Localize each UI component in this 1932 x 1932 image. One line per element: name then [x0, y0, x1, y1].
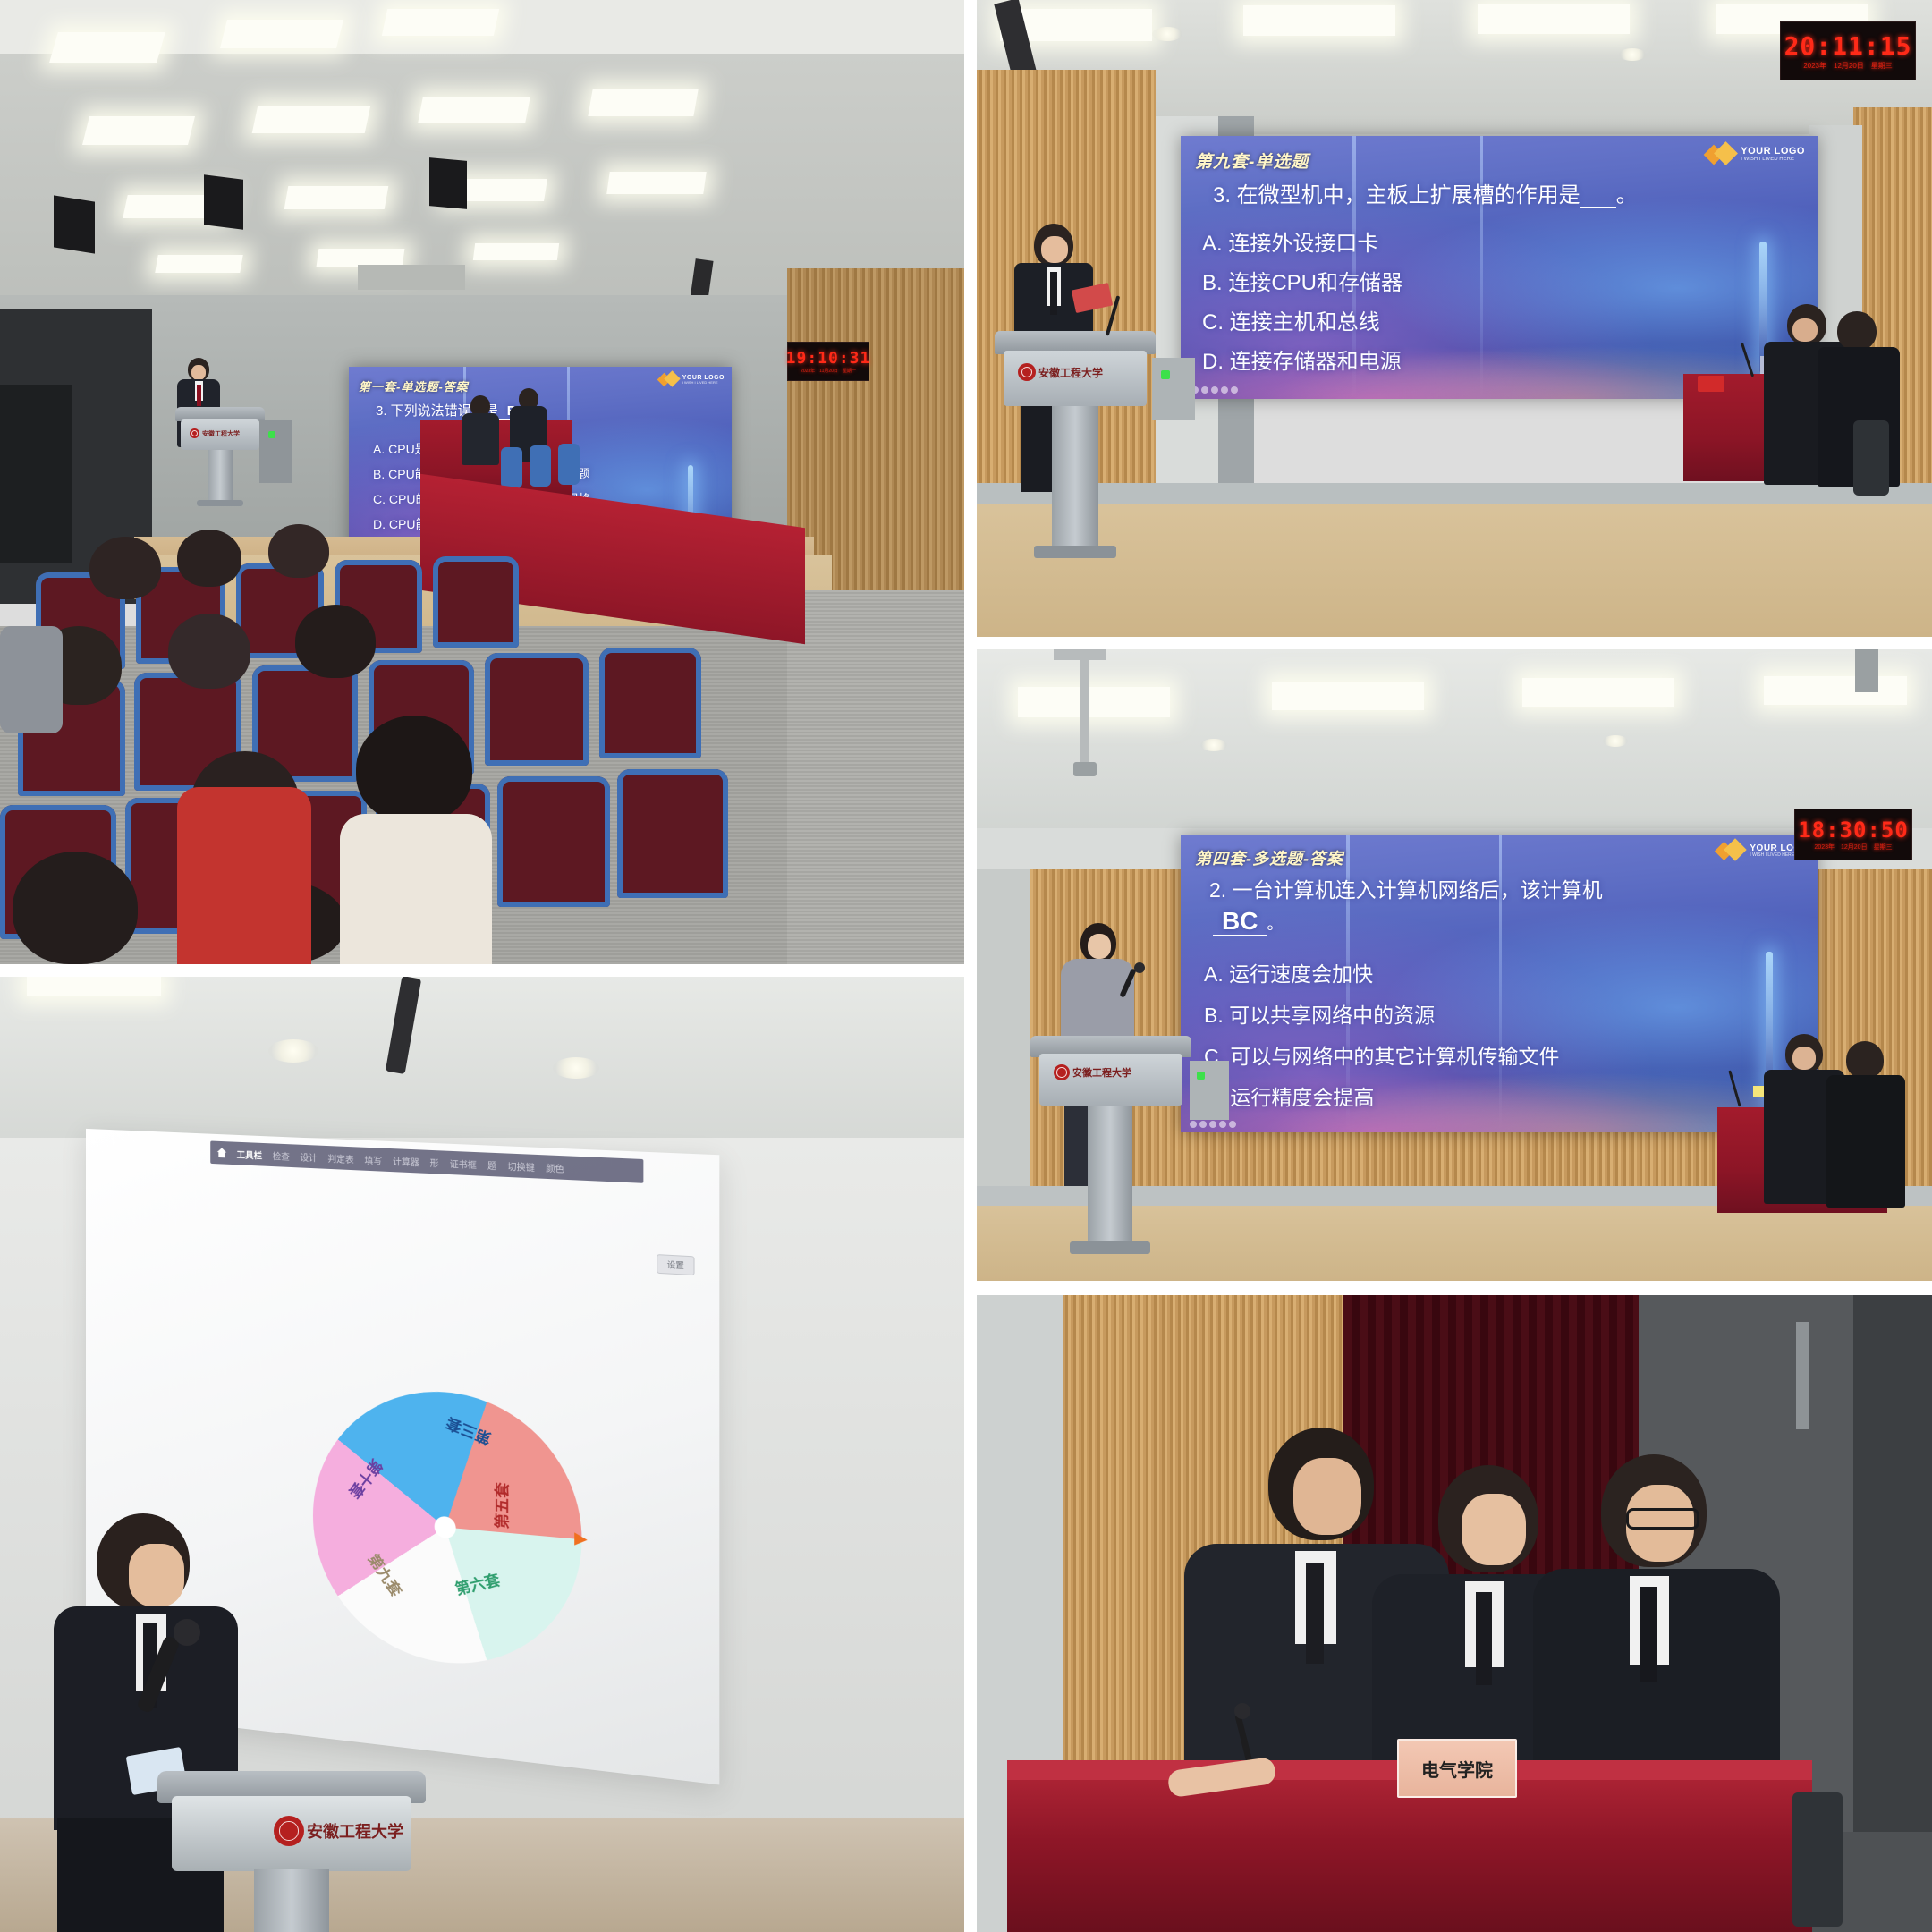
toolbar-item[interactable]: 检查: [273, 1148, 290, 1163]
audience-seat: [497, 776, 610, 907]
projection-screen-frame: 第九套-单选题 YOUR LOGO I WISH I LIVED HERE 3.…: [1181, 136, 1818, 399]
table-marker: [1698, 376, 1724, 392]
folding-chair: [530, 445, 551, 487]
clock-time: 19:10:31: [786, 349, 871, 368]
ceiling-light: [284, 186, 389, 209]
toolbar-item[interactable]: 证书框: [450, 1156, 477, 1170]
folding-chair: [1792, 1792, 1843, 1927]
wheel-label: 第五套: [489, 1481, 512, 1529]
slide-tag: 第一套-单选题-答案: [359, 377, 469, 394]
slide-option: D. 连接存储器和电源: [1202, 343, 1402, 375]
slide-option: C. 可以与网络中的其它计算机传输文件: [1204, 1039, 1559, 1070]
microphone-head: [1134, 962, 1145, 973]
slide-question: 3. 在微型机中，主板上扩展槽的作用是。: [1213, 177, 1638, 208]
podium-institution: 安徽工程大学: [307, 1819, 403, 1843]
ceiling-light: [473, 243, 559, 260]
projector: [1073, 762, 1097, 776]
slide-option: C. 连接主机和总线: [1202, 304, 1380, 335]
toolbar-item[interactable]: 题: [487, 1157, 496, 1172]
downlight-icon: [1619, 48, 1646, 61]
toolbar-item[interactable]: 工具栏: [237, 1147, 263, 1161]
slide-answer-row: BC。: [1213, 907, 1283, 936]
audience-seat: [599, 648, 701, 758]
podium: 安徽工程大学: [175, 407, 265, 505]
panel-auditorium-wide-shot: 第一套-单选题-答案 YOUR LOGO I WISH I LIVED HERE…: [0, 0, 964, 964]
slide-screen: 第九套-单选题 YOUR LOGO I WISH I LIVED HERE 3.…: [1181, 136, 1818, 399]
slide-logo-subtitle: I WISH I LIVED HERE: [682, 381, 724, 385]
downlight-icon: [1152, 27, 1182, 41]
clock-date: 12月20日: [1841, 843, 1868, 852]
toolbar-item[interactable]: 切换键: [507, 1158, 535, 1174]
wheel-pointer-icon: [574, 1532, 588, 1546]
hvac-vent: [358, 265, 465, 290]
folding-chair: [501, 447, 522, 488]
ceiling-light: [606, 172, 707, 194]
status-led: [268, 431, 275, 438]
audience-head: [356, 716, 472, 823]
led-clock: 19:10:31 2023年 11月20日 星期一: [787, 342, 869, 381]
slide-logo: YOUR LOGO I WISH I LIVED HERE: [659, 372, 724, 386]
answer-blank: [1580, 207, 1616, 208]
ceiling-light: [1764, 676, 1907, 705]
toolbar-item[interactable]: 颜色: [546, 1160, 564, 1174]
slide-option: B. 可以共享网络中的资源: [1204, 998, 1435, 1029]
ceiling-light: [27, 977, 161, 996]
audience-head: [268, 524, 329, 578]
led-clock: 20:11:15 2023年 12月20日 星期三: [1780, 21, 1916, 80]
audience-person-white-jacket: [340, 814, 492, 964]
audience-seat: [485, 653, 589, 766]
toolbar-item[interactable]: 填写: [364, 1152, 382, 1166]
audience-person-red-jacket: [177, 787, 311, 964]
wall-equipment-box: [1190, 1061, 1229, 1120]
status-led: [1161, 370, 1170, 379]
projector-mount-bracket: [1054, 649, 1106, 660]
ceiling-speaker: [54, 195, 95, 253]
audience-head: [177, 530, 241, 587]
folding-chair: [1853, 420, 1889, 496]
downlight-icon: [1200, 739, 1227, 751]
toolbar-item[interactable]: 形: [430, 1155, 439, 1169]
slide-tag: 第四套-多选题-答案: [1195, 846, 1343, 869]
podium: 安徽工程大学: [1030, 1036, 1191, 1259]
door-handle: [1796, 1322, 1809, 1429]
ceiling-fixture: [1855, 649, 1878, 692]
equipment-rack: [259, 420, 292, 483]
slide-question-text: 3. 在微型机中，主板上扩展槽的作用是: [1213, 183, 1580, 208]
ceiling-light: [220, 20, 343, 48]
nameplate: 电气学院: [1397, 1739, 1517, 1798]
home-icon[interactable]: [217, 1148, 226, 1157]
clock-time: 20:11:15: [1784, 31, 1912, 61]
ceiling-light: [49, 32, 165, 63]
slide-option: A. 运行速度会加快: [1204, 957, 1373, 987]
slide-logo-subtitle: I WISH I LIVED HERE: [1741, 157, 1805, 162]
audience-seat: [433, 556, 519, 648]
ceiling-light: [1272, 682, 1424, 710]
slide-option: B. 连接CPU和存储器: [1202, 265, 1402, 296]
audience-head: [89, 537, 161, 599]
clock-date: 12月20日: [1834, 61, 1864, 71]
ceiling-light: [317, 249, 405, 267]
panel-three-contestants-table: 电气学院: [977, 1295, 1932, 1932]
audience-head: [295, 605, 376, 678]
slide-question: 2. 一台计算机连入计算机网络后，该计算机: [1209, 873, 1603, 903]
ceiling-light: [1018, 687, 1170, 717]
clock-date: 11月20日: [819, 368, 838, 374]
microphone-head: [1234, 1703, 1250, 1719]
panel-female-host-multiple-choice: 第四套-多选题-答案 YOUR LOGO I WISH I LIVED HERE…: [977, 649, 1932, 1281]
ceiling-light: [1522, 678, 1674, 707]
photo-collage: 第一套-单选题-答案 YOUR LOGO I WISH I LIVED HERE…: [0, 0, 1932, 1932]
ceiling-light: [1478, 4, 1630, 34]
slide-logo: YOUR LOGO I WISH I LIVED HERE: [1707, 143, 1805, 165]
status-led: [1197, 1072, 1205, 1080]
slide-controls[interactable]: [1191, 386, 1238, 394]
folding-chair: [558, 444, 580, 485]
ceiling-light: [155, 255, 243, 273]
ceiling-light: [82, 116, 195, 145]
ceiling-light: [588, 89, 698, 116]
judge: [1826, 1041, 1905, 1207]
toolbar-item[interactable]: 计算器: [393, 1154, 419, 1168]
wall-column: [1853, 1295, 1932, 1832]
audience-seat: [617, 769, 728, 898]
clock-year: 2023年: [801, 368, 815, 374]
clock-year: 2023年: [1814, 843, 1835, 852]
projection-screen-frame: 第四套-多选题-答案 YOUR LOGO I WISH I LIVED HERE…: [1181, 835, 1818, 1132]
panel-host-and-contestants: 第九套-单选题 YOUR LOGO I WISH I LIVED HERE 3.…: [977, 0, 1932, 637]
clock-weekday: 星期一: [843, 368, 856, 374]
slide-answer: BC: [1213, 907, 1267, 936]
slide-option: D. 运行精度会提高: [1204, 1080, 1374, 1111]
ceiling-speaker: [429, 157, 467, 209]
led-clock: 18:30:50 2023年 12月20日 星期三: [1794, 809, 1912, 860]
wall-equipment-box: [1152, 358, 1195, 420]
podium-logo: 安徽工程大学: [1018, 363, 1103, 381]
downlight-icon: [268, 1039, 318, 1063]
slide-logo-title: YOUR LOGO: [1741, 147, 1805, 157]
podium-institution: 安徽工程大学: [1072, 1065, 1131, 1080]
microphone-head: [174, 1619, 200, 1646]
ceiling-light: [1243, 5, 1395, 36]
clock-time: 18:30:50: [1798, 818, 1909, 843]
slide-controls[interactable]: [1190, 1121, 1236, 1128]
clock-weekday: 星期三: [1874, 843, 1893, 852]
slide-screen: 第四套-多选题-答案 YOUR LOGO I WISH I LIVED HERE…: [1181, 835, 1818, 1132]
podium: 安徽工程大学: [157, 1764, 426, 1932]
settings-badge[interactable]: 设置: [657, 1254, 694, 1275]
audience-head: [168, 614, 250, 689]
audience-head: [13, 852, 138, 964]
projector-mount: [1080, 657, 1089, 764]
toolbar-item[interactable]: 判定表: [327, 1151, 353, 1165]
judge: [462, 395, 499, 465]
podium-logo: 安徽工程大学: [1054, 1064, 1131, 1080]
clock-year: 2023年: [1803, 61, 1826, 71]
ceiling-light: [252, 106, 371, 133]
podium-institution: 安徽工程大学: [202, 429, 240, 438]
ceiling-light: [382, 9, 499, 36]
podium-logo: 安徽工程大学: [274, 1816, 403, 1846]
ceiling-light: [418, 97, 530, 123]
slide-question-suffix: 。: [1616, 183, 1638, 208]
slide-option: A. 连接外设接口卡: [1202, 225, 1378, 257]
podium: 安徽工程大学: [995, 331, 1156, 563]
slide-tag: 第九套-单选题: [1195, 148, 1309, 173]
downlight-icon: [1603, 735, 1628, 747]
eyeglasses-icon: [1626, 1508, 1699, 1529]
slide-question-suffix: 。: [1267, 915, 1283, 933]
downlight-icon: [553, 1057, 599, 1079]
podium-logo: 安徽工程大学: [190, 428, 240, 438]
clock-weekday: 星期三: [1871, 61, 1893, 71]
ceiling-speaker: [204, 174, 243, 229]
audience-person-grey-jacket: [0, 626, 63, 733]
selection-wheel[interactable]: 第三套 第五套 第六套 第九套 第十套: [313, 1383, 582, 1677]
panel-spin-wheel-selection: 工具栏 检查 设计 判定表 填写 计算器 形 证书框 题 切换键 颜色 设置: [0, 977, 964, 1932]
toolbar-item[interactable]: 设计: [300, 1149, 317, 1164]
podium-institution: 安徽工程大学: [1038, 365, 1103, 380]
